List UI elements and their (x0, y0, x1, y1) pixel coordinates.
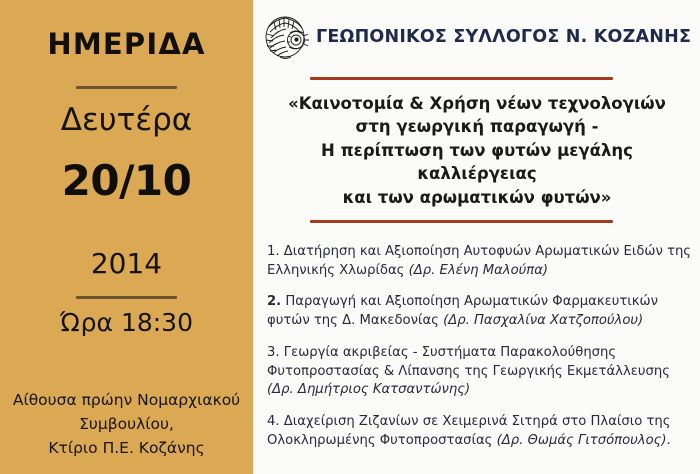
event-weekday: Δευτέρα (0, 105, 253, 136)
agenda-item: 3. Γεωργία ακριβείας - Συστήματα Παρακολ… (267, 344, 695, 400)
organization-header: ΓΕΩΠΟΝΙΚΟΣ ΣΥΛΛΟΓΟΣ Ν. ΚΟΖΑΝΗΣ (260, 11, 698, 63)
page-title: ΗΜΕΡΙΔΑ (0, 30, 253, 59)
talk-title-line-4: και των αρωματικών φυτών» (265, 186, 689, 209)
agenda-item: 2. Παραγωγή και Αξιοποίηση Αρωματικών Φα… (267, 293, 695, 330)
event-year: 2014 (0, 250, 253, 278)
venue-line-2: Συμβουλίου, (6, 412, 247, 436)
agenda-item-number: 3. (267, 345, 280, 360)
agenda-item-speaker: (Δρ. Δημήτριος Κατσαντώνης) (267, 382, 470, 397)
organization-name: ΓΕΩΠΟΝΙΚΟΣ ΣΥΛΛΟΓΟΣ Ν. ΚΟΖΑΝΗΣ (316, 27, 691, 47)
divider-top (76, 86, 177, 89)
divider-bottom (76, 296, 177, 299)
agenda-item-number: 1. (267, 244, 280, 259)
talk-title: «Καινοτομία & Χρήση νέων τεχνολογιών στη… (265, 92, 689, 209)
agenda-item-speaker: (Δρ. Πασχαλίνα Χατζοπούλου) (443, 313, 643, 328)
agenda-item: 4. Διαχείριση Ζιζανίων σε Χειμερινά Σιτη… (267, 413, 695, 450)
talk-title-line-3: Η περίπτωση των φυτών μεγάλης καλλιέργει… (265, 139, 689, 186)
agenda-item-speaker: (Δρ. Θωμάς Γιτσόπουλος) (497, 433, 667, 448)
left-date-panel: ΗΜΕΡΙΔΑ Δευτέρα 20/10 2014 Ώρα 18:30 Αίθ… (0, 0, 253, 474)
venue-line-1: Αίθουσα πρώην Νομαρχιακού (6, 388, 247, 412)
talk-title-line-1: «Καινοτομία & Χρήση νέων τεχνολογιών (265, 92, 689, 115)
owl-emblem-icon (260, 12, 312, 62)
right-content-panel: ΓΕΩΠΟΝΙΚΟΣ ΣΥΛΛΟΓΟΣ Ν. ΚΟΖΑΝΗΣ «Καινοτομ… (253, 0, 700, 474)
agenda-item-number: 4. (267, 414, 280, 429)
title-rule-bottom (310, 220, 613, 223)
agenda-list: 1. Διατήρηση και Αξιοποίηση Αυτοφυών Αρω… (267, 243, 695, 451)
event-time: Ώρα 18:30 (0, 310, 253, 335)
venue-line-3: Κτίριο Π.Ε. Κοζάνης (6, 436, 247, 460)
agenda-item-speaker: (Δρ. Ελένη Μαλούπα) (409, 263, 548, 278)
agenda-item-text: Γεωργία ακριβείας - Συστήματα Παρακολούθ… (267, 345, 670, 379)
talk-title-line-2: στη γεωργική παραγωγή - (265, 115, 689, 138)
event-date: 20/10 (0, 160, 253, 202)
event-poster: ΗΜΕΡΙΔΑ Δευτέρα 20/10 2014 Ώρα 18:30 Αίθ… (0, 0, 700, 474)
agenda-item-number: 2. (267, 294, 281, 309)
agenda-item-tail: . (667, 433, 671, 448)
title-rule-top (310, 77, 613, 80)
agenda-item: 1. Διατήρηση και Αξιοποίηση Αυτοφυών Αρω… (267, 243, 695, 280)
event-venue: Αίθουσα πρώην Νομαρχιακού Συμβουλίου, Κτ… (6, 388, 247, 460)
